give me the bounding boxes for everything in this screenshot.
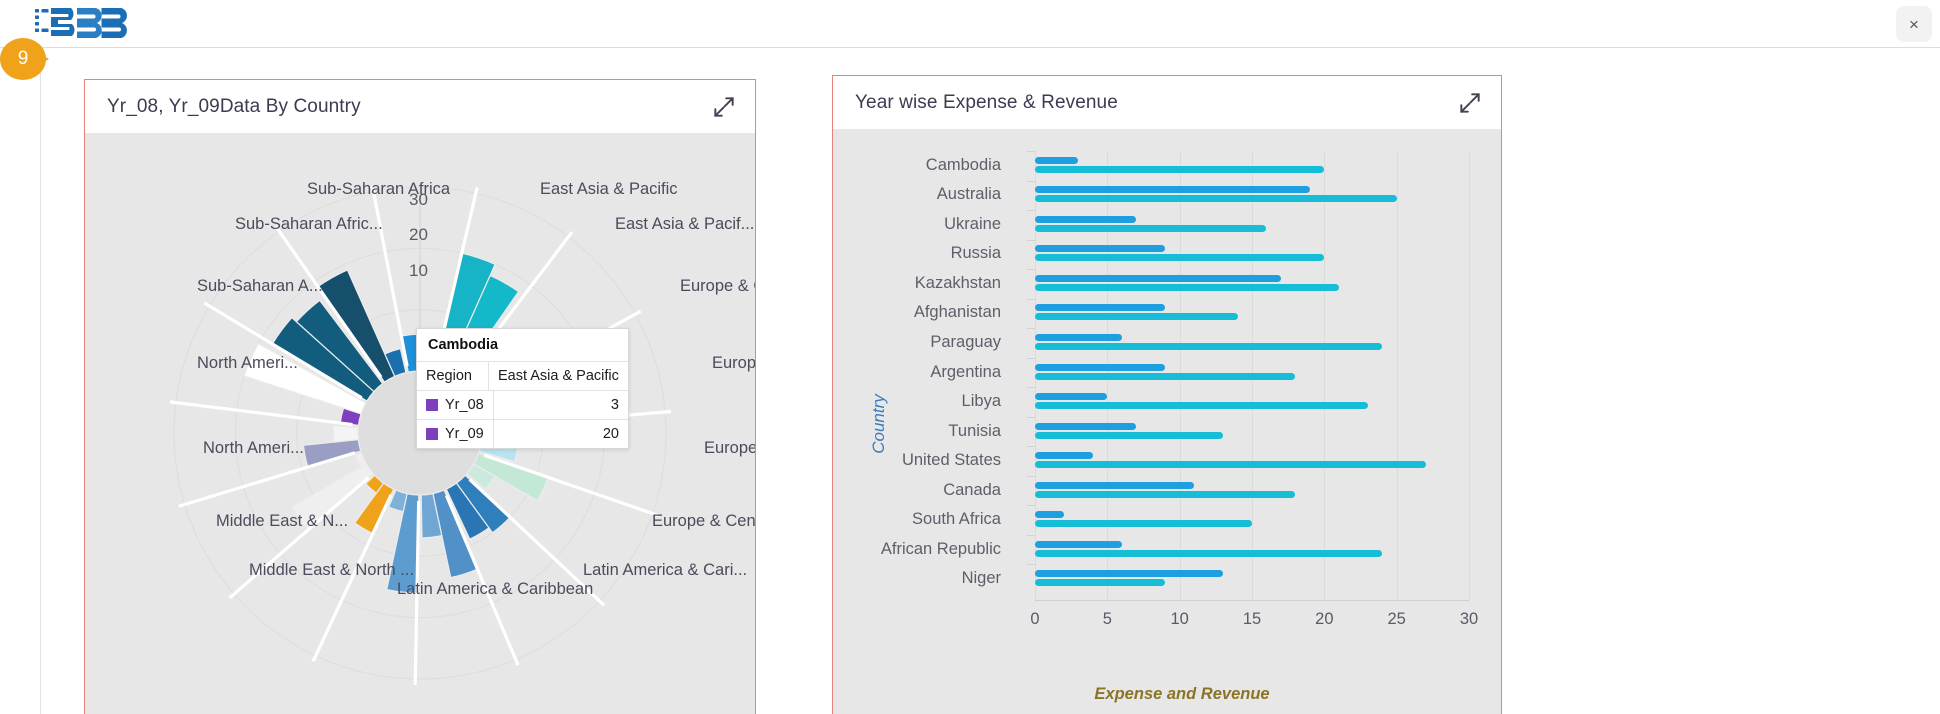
tooltip-label-yr09: Yr_09 <box>445 426 484 442</box>
x-axis-tick-label: 15 <box>1243 610 1261 629</box>
step-badge-number: 9 <box>0 38 46 80</box>
bar-expense[interactable] <box>1035 570 1223 577</box>
y-axis-tick <box>1027 299 1035 300</box>
y-axis-tick <box>1027 181 1035 182</box>
y-axis-category-label: Niger <box>833 570 1013 587</box>
bar-expense[interactable] <box>1035 334 1122 341</box>
chart-tooltip: Cambodia Region East Asia & Pacific Yr_0… <box>416 328 629 449</box>
bar-expense[interactable] <box>1035 452 1093 459</box>
tooltip-key-yr09: Yr_09 <box>417 420 494 448</box>
card-header: Yr_08, Yr_09Data By Country <box>85 80 755 133</box>
x-gridline <box>1469 151 1470 600</box>
tooltip-label-yr08: Yr_08 <box>445 397 484 413</box>
bar-chart[interactable]: Country Expense and Revenue CambodiaAust… <box>833 129 1501 714</box>
bar-expense[interactable] <box>1035 541 1122 548</box>
bar-revenue[interactable] <box>1035 432 1223 439</box>
y-axis-category-label: Libya <box>833 393 1013 410</box>
card-title-radial: Yr_08, Yr_09Data By Country <box>107 96 711 118</box>
bar-revenue[interactable] <box>1035 284 1339 291</box>
card-bar-chart: Year wise Expense & Revenue Country Expe… <box>832 75 1502 714</box>
y-axis-category-label: Paraguay <box>833 334 1013 351</box>
tooltip-value-yr08: 3 <box>494 391 628 419</box>
bar-expense[interactable] <box>1035 393 1107 400</box>
bar-revenue[interactable] <box>1035 461 1426 468</box>
tooltip-value-yr09: 20 <box>494 420 628 448</box>
y-axis-tick <box>1027 535 1035 536</box>
y-axis-category-label: Ukraine <box>833 216 1013 233</box>
legend-swatch-yr09 <box>426 428 438 440</box>
x-axis-tick-label: 0 <box>1030 610 1039 629</box>
close-icon: × <box>1909 16 1919 33</box>
y-axis-tick <box>1027 476 1035 477</box>
bar-expense[interactable] <box>1035 423 1136 430</box>
y-axis-category-label: United States <box>833 452 1013 469</box>
close-button[interactable]: × <box>1896 6 1932 42</box>
card-header: Year wise Expense & Revenue <box>833 76 1501 129</box>
radial-label-sub-saharan-africa-3: Sub-Saharan A... <box>197 278 323 295</box>
bar-revenue[interactable] <box>1035 402 1368 409</box>
y-axis-tick <box>1027 358 1035 359</box>
bar-expense[interactable] <box>1035 157 1078 164</box>
bar-revenue[interactable] <box>1035 166 1324 173</box>
expand-arrows-icon[interactable] <box>711 94 737 120</box>
x-axis-tick-label: 25 <box>1387 610 1405 629</box>
radial-label-north-america-2: North Ameri... <box>203 440 304 457</box>
y-axis-tick <box>1027 417 1035 418</box>
radial-label-east-asia-pacific-2: East Asia & Pacif... <box>615 216 754 233</box>
bar-revenue[interactable] <box>1035 343 1382 350</box>
tooltip-value-region: East Asia & Pacific <box>489 362 628 390</box>
dashboard-page: × 9 Yr_08, Yr_09Data By Country <box>0 0 1940 714</box>
x-gridline <box>1324 151 1325 600</box>
x-gridline <box>1397 151 1398 600</box>
x-axis-title: Expense and Revenue <box>833 685 1501 704</box>
y-axis-category-label: Australia <box>833 186 1013 203</box>
bar-revenue[interactable] <box>1035 491 1295 498</box>
radial-label-sub-saharan-africa-2: Sub-Saharan Afric... <box>235 216 383 233</box>
y-axis-tick <box>1027 446 1035 447</box>
bar-expense[interactable] <box>1035 216 1136 223</box>
y-axis-tick <box>1027 328 1035 329</box>
card-title-bar: Year wise Expense & Revenue <box>855 92 1457 114</box>
y-axis-category-label: Afghanistan <box>833 304 1013 321</box>
legend-swatch-yr08 <box>426 399 438 411</box>
y-axis-tick <box>1027 210 1035 211</box>
x-axis-tick-label: 10 <box>1170 610 1188 629</box>
y-axis-category-label: South Africa <box>833 511 1013 528</box>
y-axis-tick <box>1027 505 1035 506</box>
bar-revenue[interactable] <box>1035 313 1238 320</box>
left-rail-divider <box>40 49 41 714</box>
radial-label-europe-central-asia-4: Europe & Cent... <box>680 278 755 295</box>
tooltip-key-yr08: Yr_08 <box>417 391 494 419</box>
y-axis-tick <box>1027 387 1035 388</box>
y-axis-category-label: Canada <box>833 482 1013 499</box>
x-axis-tick-label: 30 <box>1460 610 1478 629</box>
radial-label-east-asia-pacific: East Asia & Pacific <box>540 181 678 198</box>
bar-expense[interactable] <box>1035 511 1064 518</box>
bar-revenue[interactable] <box>1035 373 1295 380</box>
radial-label-middle-east-north-2: Middle East & North ... <box>249 562 414 579</box>
top-bar: × <box>0 0 1940 48</box>
y-axis-tick <box>1027 240 1035 241</box>
bar-revenue[interactable] <box>1035 579 1165 586</box>
bar-expense[interactable] <box>1035 304 1165 311</box>
tooltip-row-yr08: Yr_08 3 <box>417 391 628 420</box>
x-axis-tick-label: 20 <box>1315 610 1333 629</box>
bdb-logo <box>34 6 139 42</box>
bar-expense[interactable] <box>1035 275 1281 282</box>
radial-tick-20: 20 <box>409 225 428 245</box>
y-axis-tick <box>1027 564 1035 565</box>
bar-expense[interactable] <box>1035 245 1165 252</box>
card-body-radial: 30 20 10 Sub-Saharan Africa Sub-Saharan … <box>85 133 755 714</box>
bar-expense[interactable] <box>1035 364 1165 371</box>
y-axis-category-label: Kazakhstan <box>833 275 1013 292</box>
card-radial-chart: Yr_08, Yr_09Data By Country 30 20 <box>84 79 756 714</box>
bar-revenue[interactable] <box>1035 225 1266 232</box>
y-axis-tick <box>1027 269 1035 270</box>
expand-arrows-icon[interactable] <box>1457 90 1483 116</box>
y-axis-category-label: Russia <box>833 245 1013 262</box>
y-axis-category-label: Cambodia <box>833 157 1013 174</box>
radial-label-europe-central-asia-3: Europe & Ce... <box>712 355 755 372</box>
tooltip-key-region: Region <box>417 362 489 390</box>
x-axis-tick-label: 5 <box>1103 610 1112 629</box>
step-badge: 9 <box>0 38 58 80</box>
radial-chart: 30 20 10 Sub-Saharan Africa Sub-Saharan … <box>85 133 755 714</box>
y-axis-category-label: Tunisia <box>833 423 1013 440</box>
radial-label-sub-saharan-africa: Sub-Saharan Africa <box>307 181 450 198</box>
y-axis-tick <box>1027 151 1035 152</box>
y-axis-category-label: Argentina <box>833 364 1013 381</box>
bar-expense[interactable] <box>1035 186 1310 193</box>
radial-label-latin-america-2: Latin America & Cari... <box>583 562 747 579</box>
bar-revenue[interactable] <box>1035 550 1382 557</box>
card-body-bar: Country Expense and Revenue CambodiaAust… <box>833 129 1501 714</box>
radial-label-north-america: North Ameri... <box>197 355 298 372</box>
radial-tick-10: 10 <box>409 261 428 281</box>
tooltip-title: Cambodia <box>417 329 628 362</box>
bar-revenue[interactable] <box>1035 254 1324 261</box>
x-axis-line <box>1035 600 1469 601</box>
radial-label-europe-central-asia: Europe & Centra... <box>652 513 755 530</box>
y-axis-category-label: African Republic <box>833 541 1013 558</box>
bar-revenue[interactable] <box>1035 195 1397 202</box>
bar-expense[interactable] <box>1035 482 1194 489</box>
tooltip-row-region: Region East Asia & Pacific <box>417 362 628 391</box>
radial-label-latin-america: Latin America & Caribbean <box>397 581 593 598</box>
radial-label-middle-east-north: Middle East & N... <box>216 513 348 530</box>
tooltip-row-yr09: Yr_09 20 <box>417 420 628 448</box>
radial-label-europe-central-asia-2: Europe & Ce... <box>704 440 755 457</box>
bar-revenue[interactable] <box>1035 520 1252 527</box>
dashboard-workspace: Yr_08, Yr_09Data By Country 30 20 <box>0 49 1940 714</box>
